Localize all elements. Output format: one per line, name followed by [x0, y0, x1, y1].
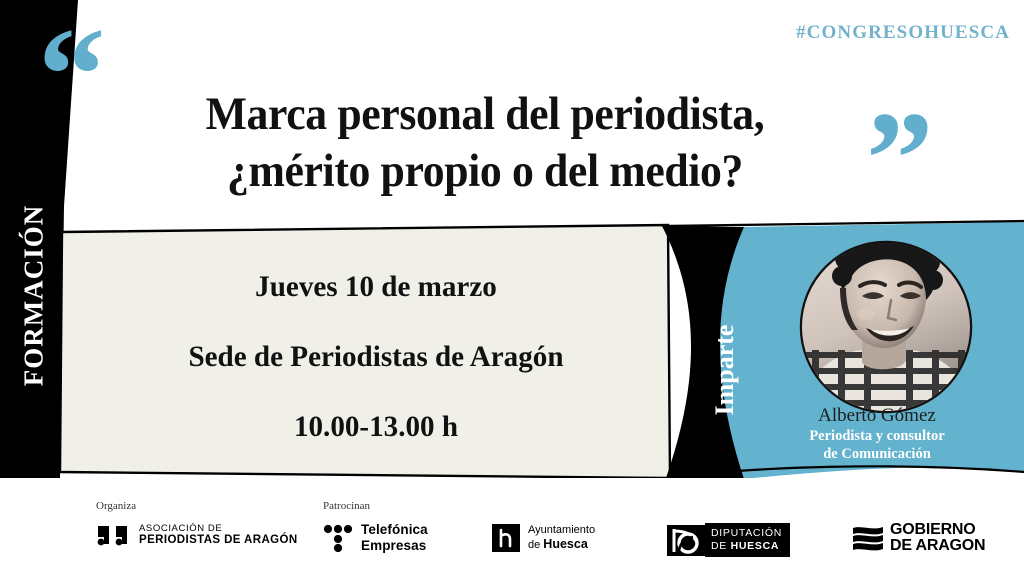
event-details: Jueves 10 de marzo Sede de Periodistas d…	[96, 272, 656, 442]
poster-title: Marca personal del periodista, ¿mérito p…	[108, 86, 861, 201]
title-line-2: ¿mérito propio o del medio?	[108, 143, 861, 200]
diputacion-mark-icon	[667, 525, 705, 556]
apa-line-1: ASOCIACIÓN DE	[139, 523, 298, 534]
patrocinan-label: Patrocinan	[323, 500, 370, 512]
gobierno-line-1: GOBIERNO	[890, 522, 985, 538]
telefonica-line-2: Empresas	[361, 538, 428, 554]
apa-mark-icon	[96, 522, 132, 548]
ayuntamiento-city: Huesca	[543, 537, 587, 551]
speaker-role-line-1: Periodista y consultor	[809, 428, 944, 444]
diputacion-line-2: DE HUESCA	[711, 540, 782, 553]
ayuntamiento-line-1: Ayuntamiento	[528, 524, 595, 537]
logo-gobierno-aragon: GOBIERNO DE ARAGON	[851, 522, 985, 554]
telefonica-line-1: Telefónica	[361, 522, 428, 538]
event-date: Jueves 10 de marzo	[104, 272, 647, 302]
diputacion-line-1: DIPUTACIÓN	[711, 527, 782, 540]
open-quote-icon: “	[38, 8, 106, 143]
sponsors-footer: Organiza Patrocinan ASOCIACIÓN DE PERIOD…	[0, 478, 1024, 575]
diputacion-city: HUESCA	[731, 540, 780, 552]
apa-line-2: PERIODISTAS DE ARAGÓN	[139, 534, 298, 548]
category-label-formacion: FORMACIÓN	[19, 196, 50, 396]
logo-asociacion-periodistas-aragon: ASOCIACIÓN DE PERIODISTAS DE ARAGÓN	[96, 522, 298, 548]
ayuntamiento-line-2: de Huesca	[528, 537, 595, 552]
logo-telefonica-empresas: Telefónica Empresas	[323, 522, 428, 554]
logo-diputacion-huesca: DIPUTACIÓN DE HUESCA	[667, 523, 790, 557]
telefonica-mark-icon	[323, 524, 353, 552]
logo-ayuntamiento-huesca: Ayuntamiento de Huesca	[492, 524, 595, 552]
ayuntamiento-de: de	[528, 539, 543, 551]
gobierno-line-2: DE ARAGON	[890, 538, 985, 554]
imparte-label: Imparte	[710, 290, 740, 450]
title-line-1: Marca personal del periodista,	[206, 88, 765, 140]
organiza-label: Organiza	[96, 500, 136, 512]
event-venue: Sede de Periodistas de Aragón	[104, 342, 647, 372]
speaker-role-line-2: de Comunicación	[823, 446, 931, 462]
speaker-name: Alberto Gómez	[742, 405, 1012, 427]
close-quote-icon: ”	[866, 92, 934, 227]
diputacion-de: DE	[711, 540, 731, 552]
hashtag-congresohuesca: #CONGRESOHUESCA	[796, 22, 1010, 44]
gobierno-aragon-mark-icon	[851, 523, 885, 553]
ayuntamiento-mark-icon	[492, 524, 520, 552]
speaker-role: Periodista y consultor de Comunicación	[742, 428, 1012, 463]
poster-canvas: #CONGRESOHUESCA “ ” Marca personal del p…	[0, 0, 1024, 575]
event-time: 10.00-13.00 h	[104, 412, 647, 442]
